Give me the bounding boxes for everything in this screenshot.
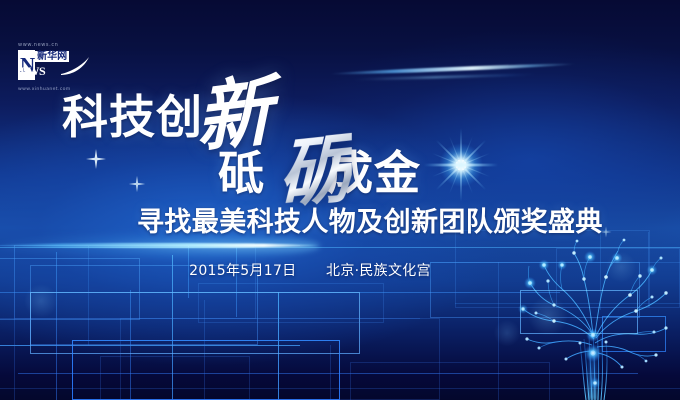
grid-rect <box>350 362 550 400</box>
logo-swoosh-icon <box>60 56 90 78</box>
grid-rect <box>198 283 384 323</box>
event-date: 2015年5月17日 <box>189 263 296 279</box>
grid-rect <box>100 356 250 400</box>
headline-calligraphy-li: 砺 <box>278 132 352 214</box>
logo-word-news: EWS <box>20 65 45 77</box>
event-meta: 2015年5月17日 北京·民族文化宫 <box>0 262 680 280</box>
event-venue: 北京·民族文化宫 <box>326 263 431 279</box>
headline-line2-regular-before: 砥 <box>218 148 265 198</box>
xinhua-net-logo[interactable]: www.news.cn N 新华网 EWS www.xinhuanet.com <box>18 42 92 92</box>
logo-url-top: www.news.cn <box>18 42 92 48</box>
event-banner: www.news.cn N 新华网 EWS www.xinhuanet.com … <box>0 0 680 400</box>
headline-line-1: 科技创 <box>62 92 203 142</box>
banner-subtitle: 寻找最美科技人物及创新团队颁奖盛典 <box>137 207 603 239</box>
grid-rect <box>602 316 666 352</box>
headline-line1-regular: 科技创 <box>62 92 203 142</box>
